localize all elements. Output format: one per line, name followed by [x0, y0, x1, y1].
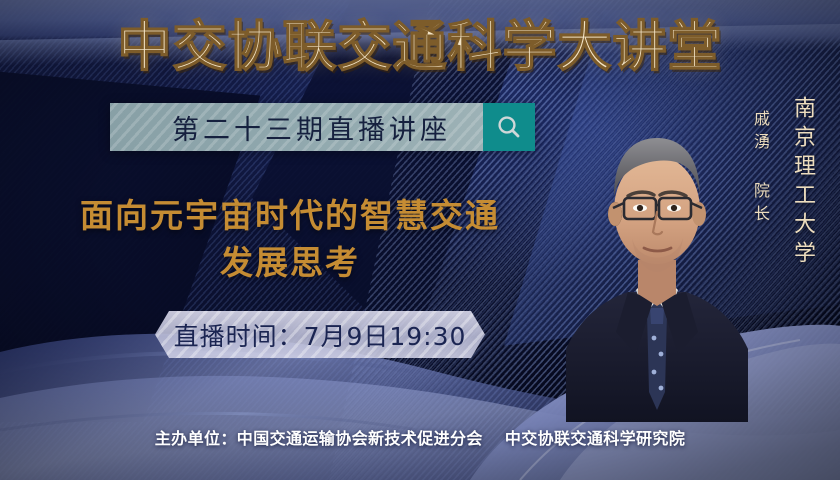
episode-banner-fill: 第二十三期直播讲座 [110, 103, 483, 151]
broadcast-time-badge: 直播时间：7月9日19:30 [155, 311, 485, 358]
lecture-title-line-2: 发展思考 [30, 239, 550, 286]
search-icon [496, 114, 522, 140]
search-button[interactable] [483, 103, 535, 151]
footer-org-2: 中交协联交通科学研究院 [505, 429, 685, 448]
speaker-portrait [566, 92, 748, 422]
speaker-organization: 南京理工大学 [786, 96, 818, 270]
main-title: 中交协联交通科学大讲堂 [0, 16, 840, 78]
episode-label: 第二十三期直播讲座 [142, 108, 451, 147]
lecture-title: 面向元宇宙时代的智慧交通 发展思考 [30, 192, 550, 286]
footer-org-1: 中国交通运输协会新技术促进分会 [237, 429, 483, 448]
footer-prefix: 主办单位： [155, 429, 237, 448]
lecture-title-line-1: 面向元宇宙时代的智慧交通 [30, 192, 550, 239]
episode-banner: 第二十三期直播讲座 [110, 103, 535, 151]
broadcast-time-text: 直播时间：7月9日19:30 [174, 317, 467, 353]
footer-organizers: 主办单位：中国交通运输协会新技术促进分会中交协联交通科学研究院 [0, 425, 840, 449]
speaker-name-title: 戚湧 院长 [748, 110, 772, 228]
live-lecture-poster: 中交协联交通科学大讲堂 第二十三期直播讲座 面向元宇宙时代的智慧交通 发展思考 … [0, 0, 840, 480]
